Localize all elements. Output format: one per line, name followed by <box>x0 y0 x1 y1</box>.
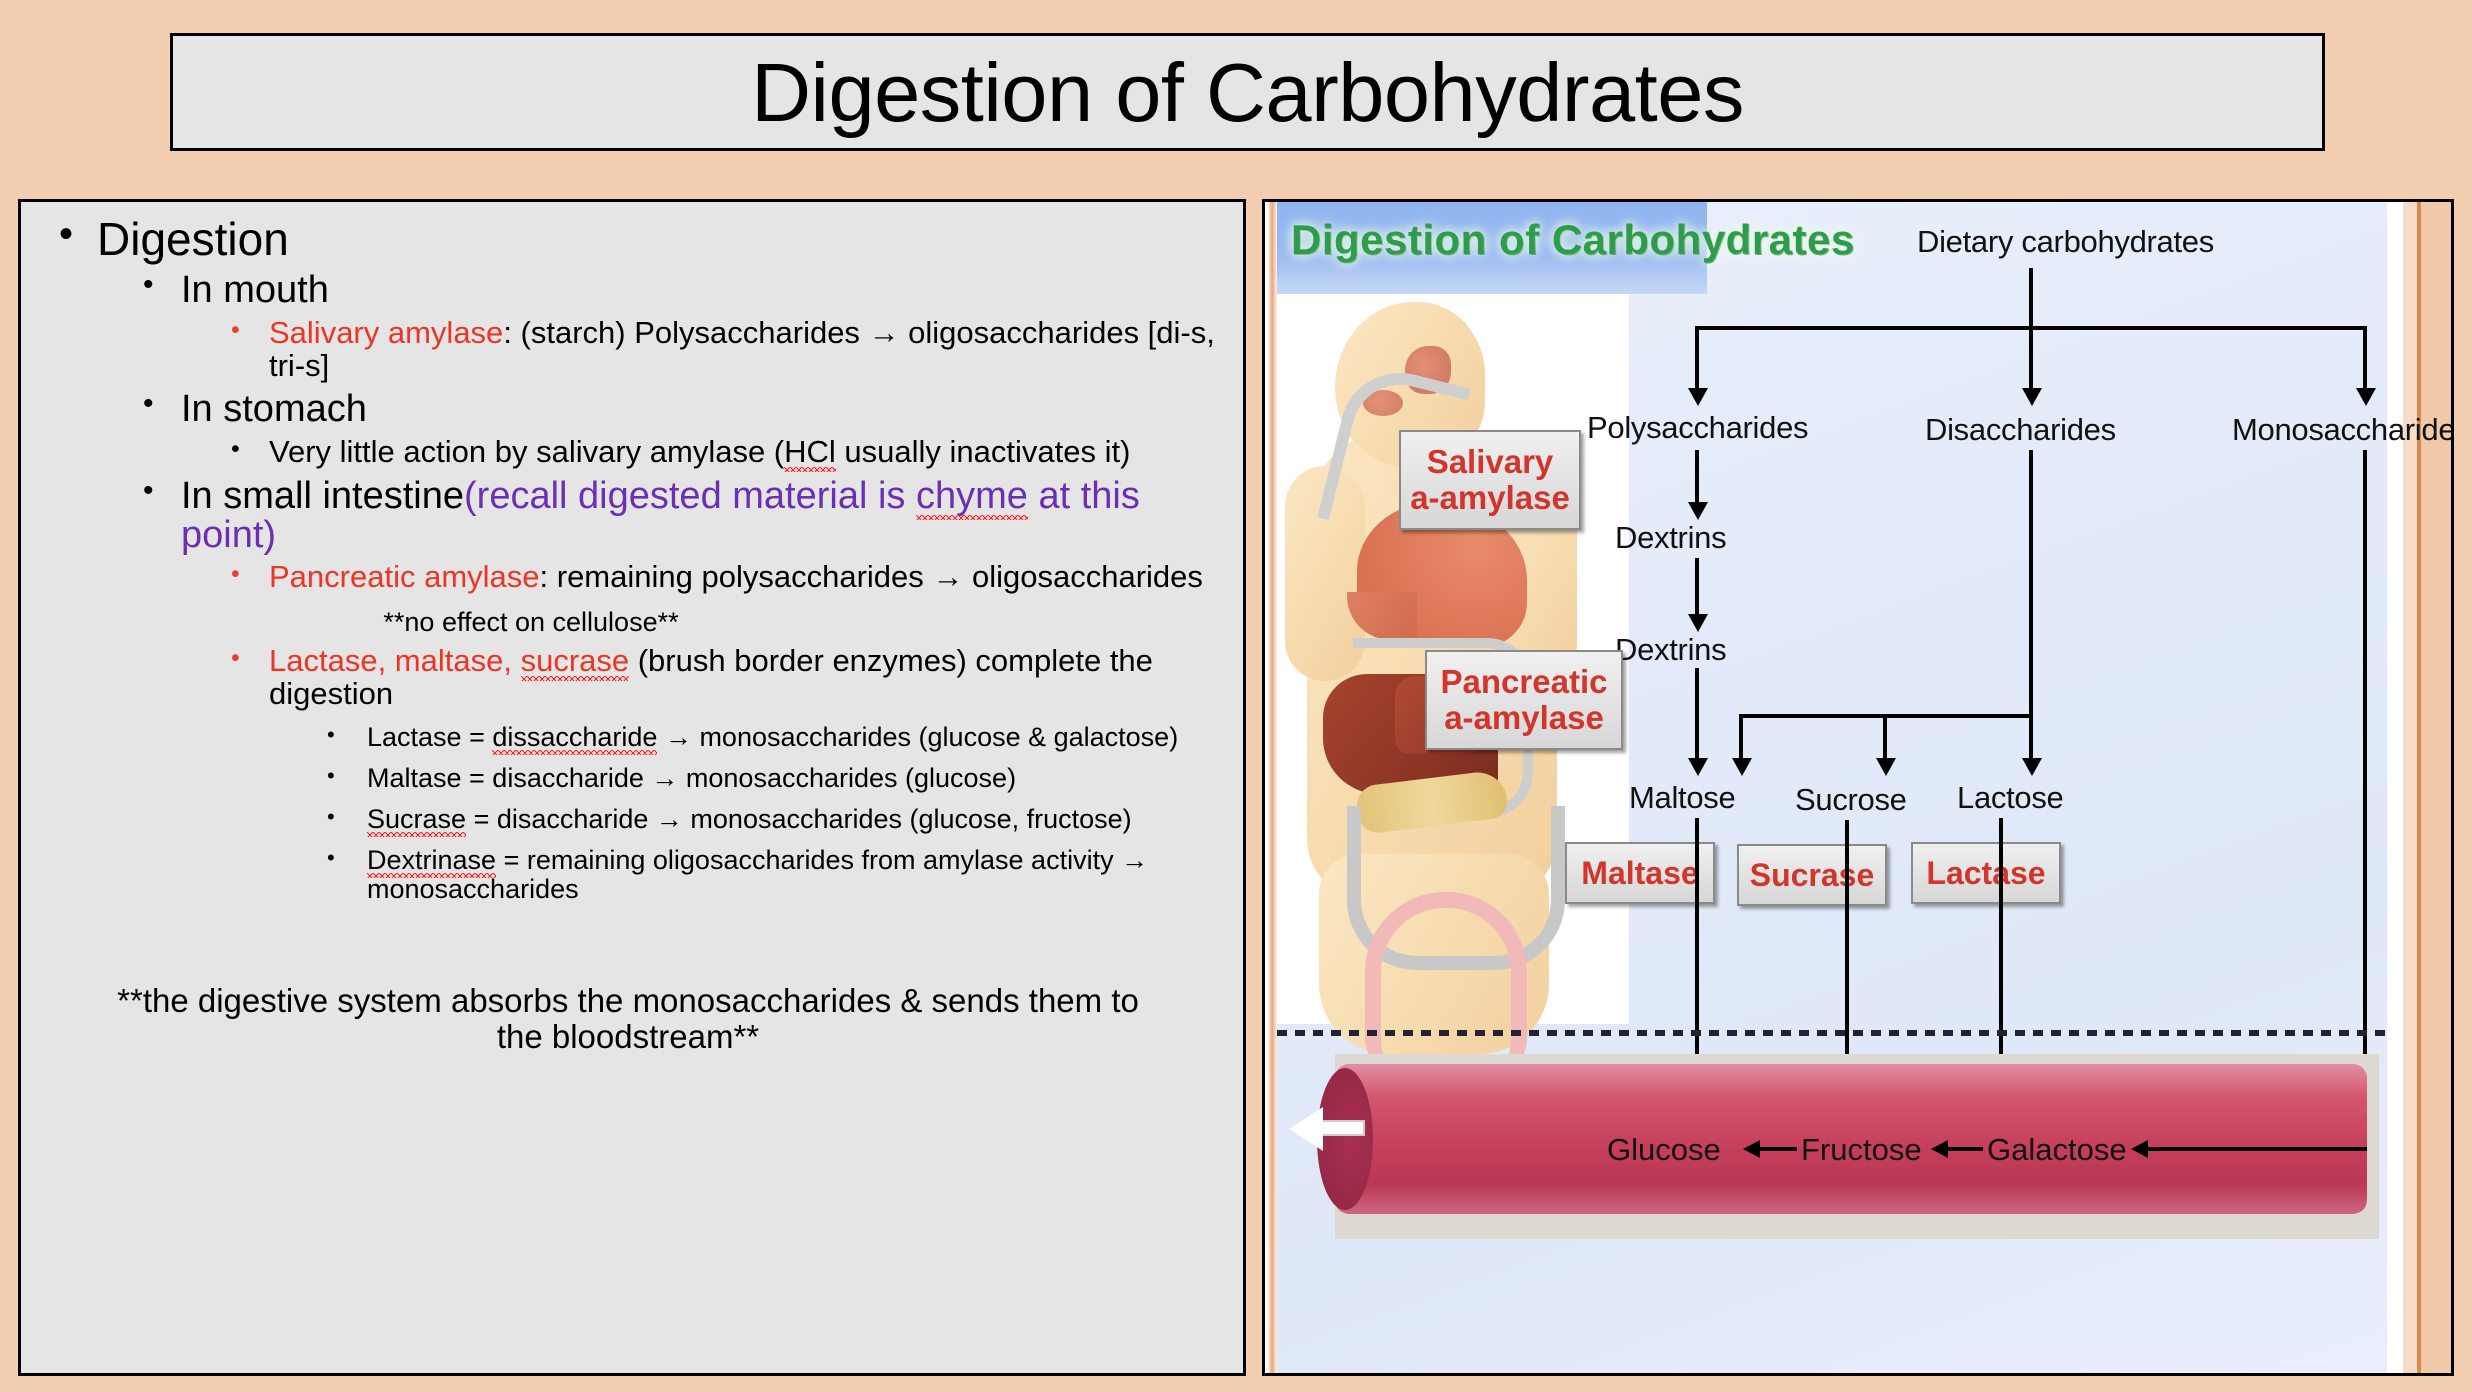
bullet-in-stomach-label: In stomach <box>181 388 367 430</box>
edge-mono-to-galactose <box>2145 1147 2367 1151</box>
node-disaccharides: Disaccharides <box>1925 412 2116 448</box>
bullet-in-small-intestine: In small intestine(recall digested mater… <box>139 477 1225 555</box>
edge-to-maltose-2 <box>1739 714 1743 764</box>
edge-to-polysaccharides <box>1695 326 1699 392</box>
image-white-stripe <box>2387 202 2403 1373</box>
dissaccharide-misspelled-term: dissaccharide <box>492 722 657 752</box>
node-dextrins-2: Dextrins <box>1615 632 1726 668</box>
sucrase-label: Sucrase <box>1750 858 1875 893</box>
node-dextrins-1: Dextrins <box>1615 520 1726 556</box>
edge-disaccharides-down <box>2029 450 2033 716</box>
image-peach-stripe-inner <box>2403 202 2417 1373</box>
bullet-stomach-action: Very little action by salivary amylase (… <box>227 436 1225 469</box>
arrow-to-disaccharides <box>2022 388 2042 406</box>
arrow-to-lactose <box>2022 758 2042 776</box>
slide-title-box: Digestion of Carbohydrates <box>170 33 2325 151</box>
salivary-amylase-line2: a-amylase <box>1410 480 1570 516</box>
bullet-dextrinase-reaction: Dextrinase = remaining oligosaccharides … <box>321 846 1225 904</box>
edge-fructose-to-glucose <box>1757 1147 1797 1151</box>
flowchart-layer: Dietary carbohydrates Polysaccharides Di… <box>1277 202 2387 1373</box>
enzyme-box-lactase: Lactase <box>1911 842 2061 904</box>
edge-dextrins2-to-maltose <box>1695 668 1699 764</box>
stomach-action-text-a: Very little action by salivary amylase ( <box>269 434 784 469</box>
bullet-in-stomach: In stomach <box>139 390 1225 429</box>
bullet-salivary-amylase: Salivary amylase: (starch) Polysaccharid… <box>227 317 1225 383</box>
dextrinase-term: Dextrinase <box>367 845 496 875</box>
node-fructose: Fructose <box>1801 1132 1922 1168</box>
stomach-action-text-b: usually inactivates it) <box>836 434 1131 469</box>
edge-dextrins1-to-dextrins2 <box>1695 558 1699 620</box>
bullet-pancreatic-amylase: Pancreatic amylase: remaining polysaccha… <box>227 561 1225 594</box>
note-no-cellulose: **no effect on cellulose** <box>151 608 911 638</box>
hcl-misspelled-term: HCl <box>784 434 836 469</box>
edge-monosaccharides-to-vessel <box>2363 450 2367 1156</box>
arrow-dextrins2-to-maltose <box>1688 758 1708 776</box>
edge-to-disaccharides <box>2029 326 2033 392</box>
diagram-image-panel: Digestion of Carbohydrates Dietary <box>1262 199 2454 1376</box>
enzyme-box-sucrase: Sucrase <box>1737 844 1887 906</box>
chyme-misspelled-term: chyme <box>916 475 1028 517</box>
node-polysaccharides: Polysaccharides <box>1587 410 1808 446</box>
sucrase-misspelled-term: sucrase <box>521 643 630 678</box>
salivary-amylase-term: Salivary amylase <box>269 315 503 350</box>
lactase-label: Lactase <box>1926 856 2045 891</box>
enzyme-box-pancreatic-amylase: Pancreatic a-amylase <box>1425 650 1623 750</box>
bullet-sucrase-reaction: Sucrase = disaccharide → monosaccharides… <box>321 805 1225 834</box>
bullet-digestion-label: Digestion <box>97 213 289 265</box>
bullet-digestion: Digestion <box>53 216 1225 263</box>
edge-galactose-to-fructose <box>1945 1147 1983 1151</box>
arrow-to-monosaccharides <box>2356 388 2376 406</box>
bullet-lactase-reaction: Lactase = dissaccharide → monosaccharide… <box>321 723 1225 752</box>
node-maltose: Maltose <box>1629 780 1735 816</box>
arrow-dextrins1-to-dextrins2 <box>1688 614 1708 632</box>
arrow-poly-to-dextrins1 <box>1688 502 1708 520</box>
intestinal-wall-dotted-line <box>1277 1030 2387 1036</box>
lactase-text-b: → monosaccharides (glucose & galactose) <box>657 722 1178 752</box>
edge-to-monosaccharides <box>2363 326 2367 392</box>
image-peach-stripe-outer <box>2421 202 2451 1373</box>
salivary-amylase-line1: Salivary <box>1427 444 1554 480</box>
pancreatic-amylase-description: : remaining polysaccharides → oligosacch… <box>540 559 1203 594</box>
bullet-in-mouth: In mouth <box>139 271 1225 310</box>
sucrase-text: = disaccharide → monosaccharides (glucos… <box>466 804 1132 834</box>
carbohydrate-digestion-diagram: Digestion of Carbohydrates Dietary <box>1277 202 2387 1373</box>
node-lactose: Lactose <box>1957 780 2063 816</box>
node-glucose: Glucose <box>1607 1132 1721 1168</box>
edge-to-sucrose <box>1883 714 1887 764</box>
pancreatic-amylase-term: Pancreatic amylase <box>269 559 540 594</box>
node-dietary-carbohydrates: Dietary carbohydrates <box>1917 224 2214 260</box>
arrow-to-polysaccharides <box>1688 388 1708 406</box>
blood-vessel-opening <box>1317 1068 1373 1210</box>
edge-to-lactose <box>2029 714 2033 764</box>
bullet-in-small-intestine-label: In small intestine <box>181 475 464 517</box>
edge-dietary-to-split <box>2029 268 2033 326</box>
pancreatic-amylase-line2: a-amylase <box>1444 700 1604 736</box>
bloodstream-flow-arrow-tail <box>1321 1120 1365 1136</box>
image-left-border-stripe <box>1265 202 1277 1373</box>
outline-content-panel: Digestion In mouth Salivary amylase: (st… <box>18 199 1246 1376</box>
page-title: Digestion of Carbohydrates <box>751 51 1744 134</box>
sucrase-term: Sucrase <box>367 804 466 834</box>
enzyme-box-salivary-amylase: Salivary a-amylase <box>1399 430 1581 530</box>
node-sucrose: Sucrose <box>1795 782 1907 818</box>
lactase-text-a: Lactase = <box>367 722 492 752</box>
enzyme-box-maltase: Maltase <box>1565 842 1715 904</box>
arrow-to-maltose-2 <box>1732 758 1752 776</box>
chyme-note-a: (recall digested material is <box>464 475 916 517</box>
pancreatic-amylase-line1: Pancreatic <box>1441 664 1608 700</box>
node-monosaccharides: Monosaccharides <box>2232 412 2454 448</box>
arrow-to-sucrose <box>1876 758 1896 776</box>
brush-border-terms: Lactase, maltase, <box>269 643 521 678</box>
bloodstream-flow-arrow-icon <box>1289 1107 1323 1151</box>
maltase-label: Maltase <box>1581 856 1698 891</box>
bullet-in-mouth-label: In mouth <box>181 269 329 311</box>
closing-note: **the digestive system absorbs the monos… <box>113 983 1143 1057</box>
edge-poly-to-dextrins1 <box>1695 450 1699 508</box>
bullet-brush-border-enzymes: Lactase, maltase, sucrase (brush border … <box>227 645 1225 711</box>
maltase-text: Maltase = disaccharide → monosaccharides… <box>367 763 1016 793</box>
node-galactose: Galactose <box>1987 1132 2127 1168</box>
bullet-maltase-reaction: Maltase = disaccharide → monosaccharides… <box>321 764 1225 793</box>
